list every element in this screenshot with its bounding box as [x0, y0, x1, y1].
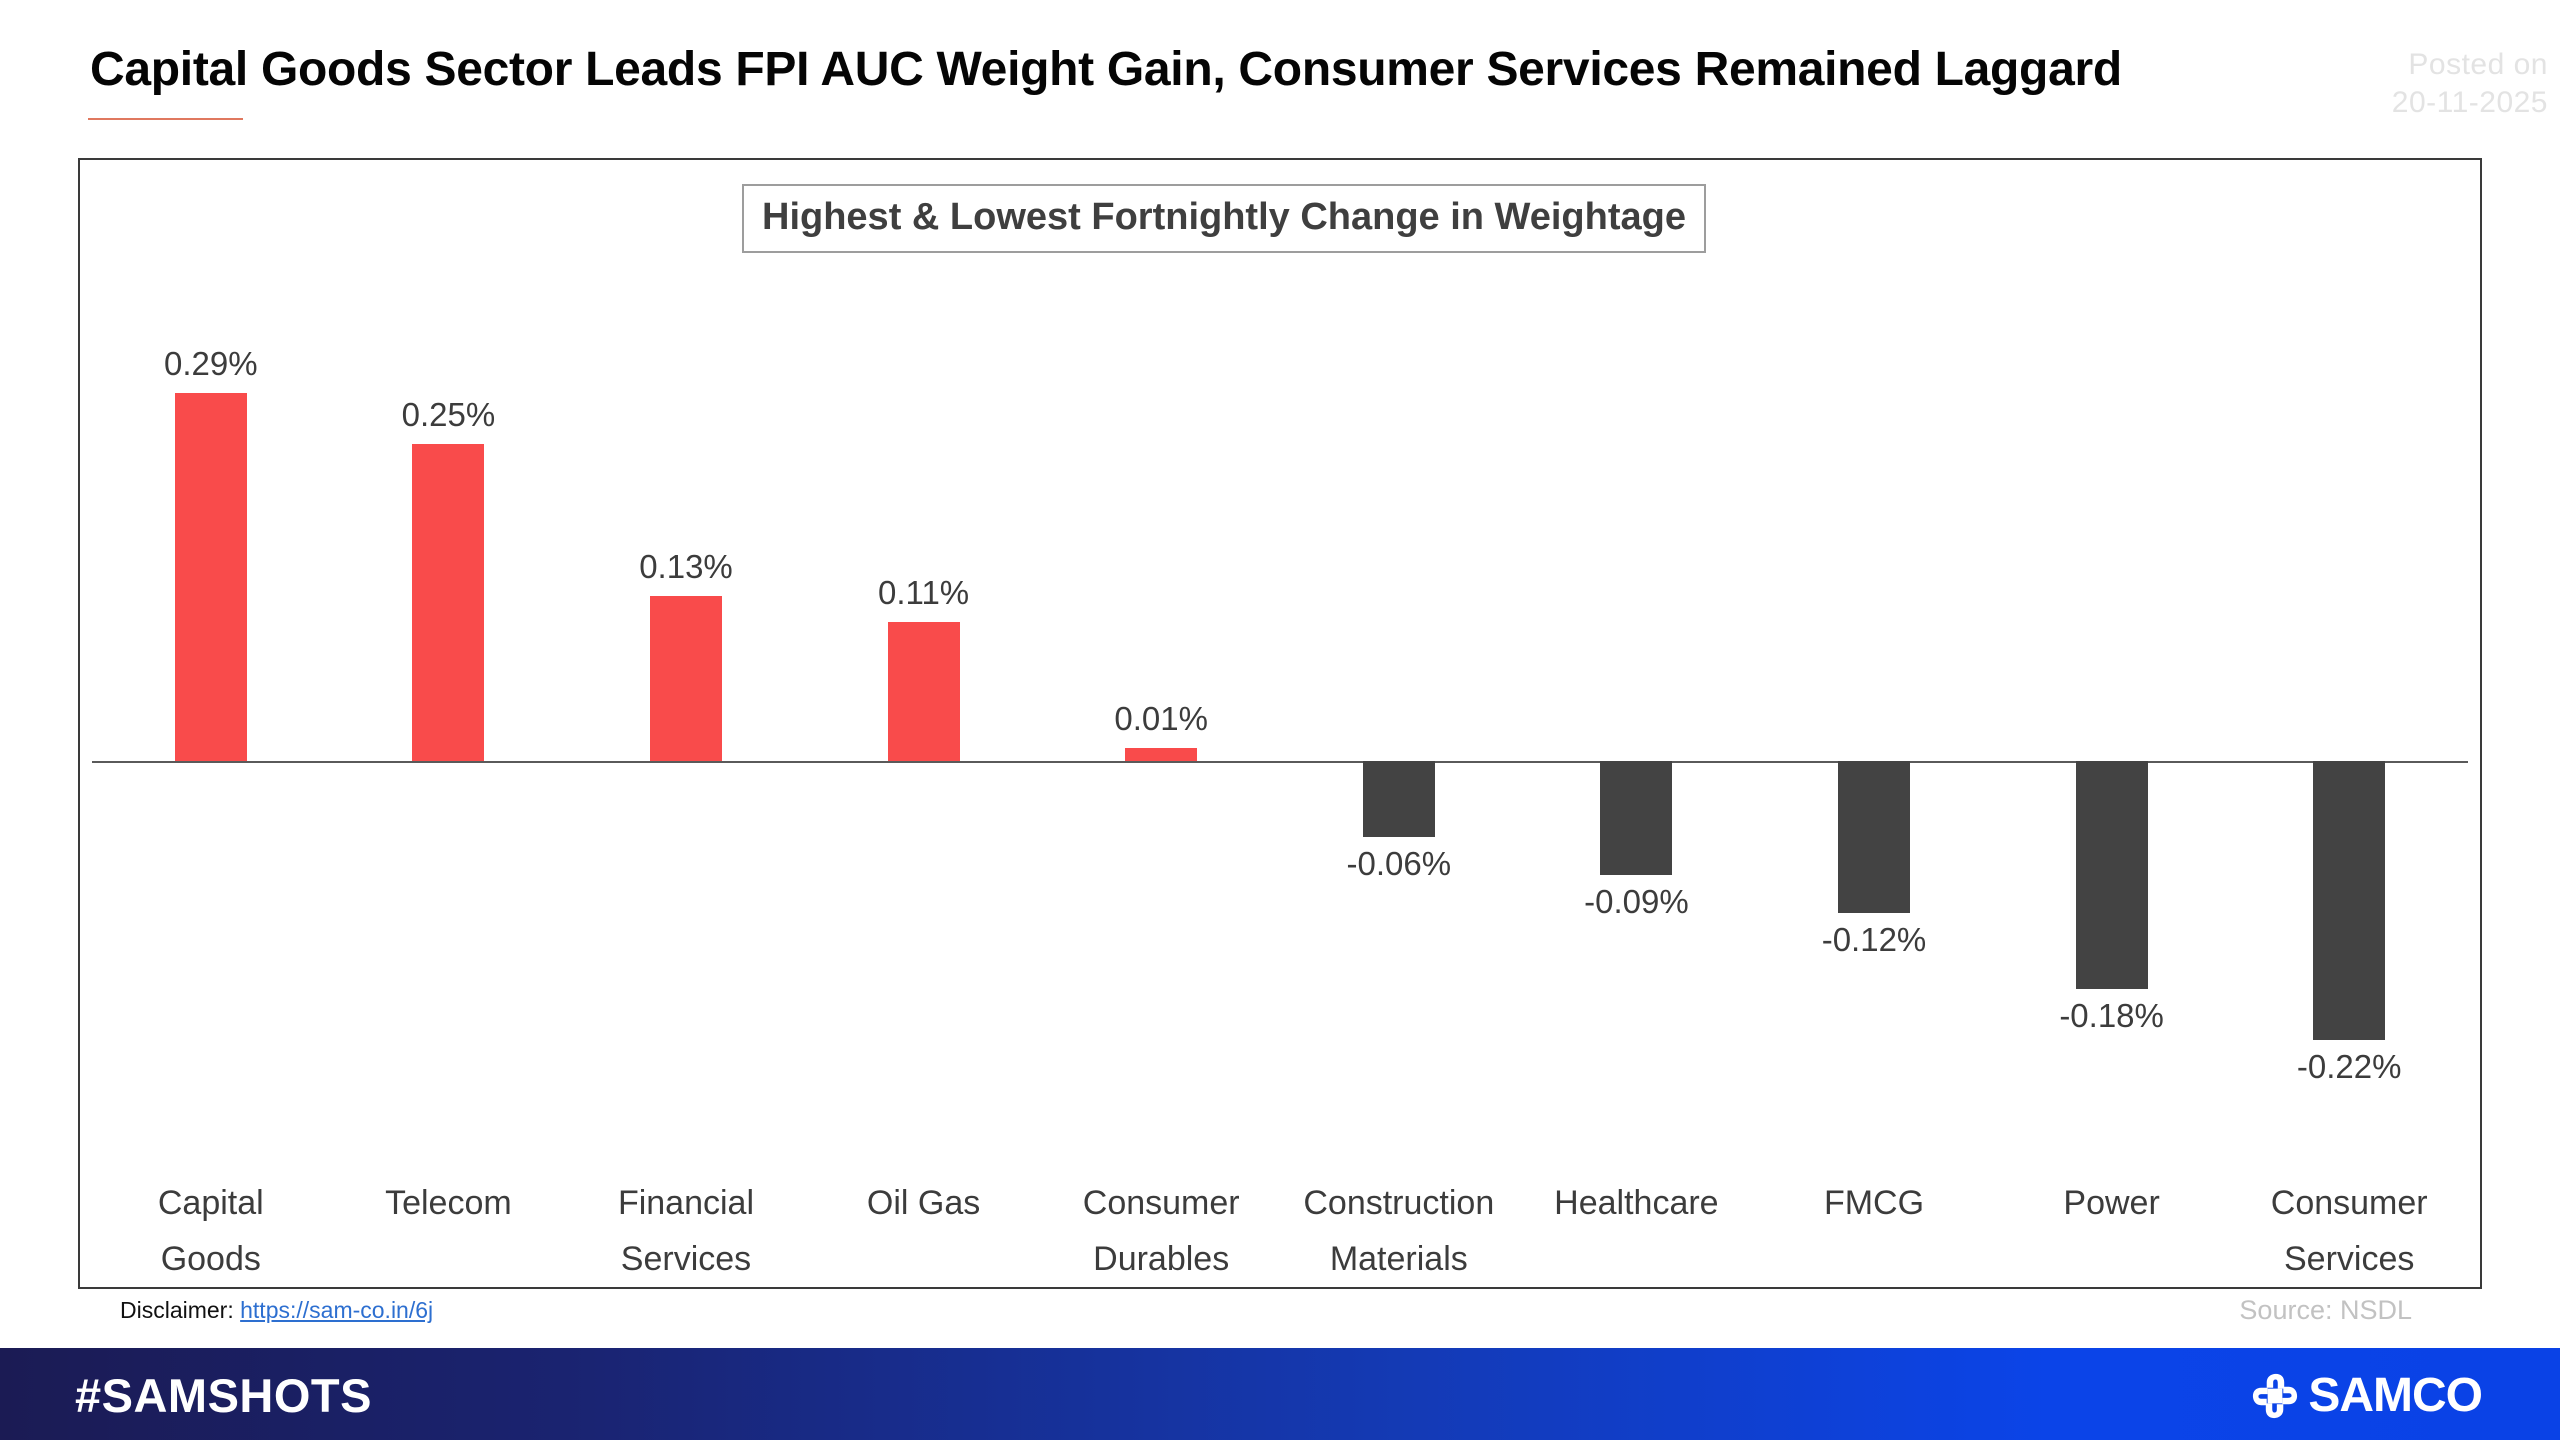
- bar-value-label: 0.25%: [402, 396, 496, 434]
- bar-slot: -0.22%: [2230, 160, 2468, 1170]
- bar-slot: 0.01%: [1042, 160, 1280, 1170]
- x-axis-label: ConstructionMaterials: [1280, 1175, 1518, 1287]
- samco-logo: SAMCO: [2252, 1368, 2482, 1423]
- x-axis-label: Oil Gas: [805, 1175, 1043, 1231]
- bar-negative[interactable]: [1363, 761, 1435, 837]
- chart-container: Highest & Lowest Fortnightly Change in W…: [78, 158, 2482, 1289]
- source-label: Source: NSDL: [2239, 1295, 2412, 1326]
- bar-value-label: -0.06%: [1347, 845, 1452, 883]
- bar-slot: -0.12%: [1755, 160, 1993, 1170]
- bar-value-label: 0.11%: [878, 574, 969, 612]
- disclaimer: Disclaimer: https://sam-co.in/6j: [120, 1297, 433, 1324]
- bar-value-label: -0.09%: [1584, 883, 1689, 921]
- bar-negative[interactable]: [1600, 761, 1672, 875]
- bar-value-label: -0.22%: [2297, 1048, 2402, 1086]
- x-axis-labels: CapitalGoodsTelecomFinancialServicesOil …: [92, 1175, 2468, 1285]
- bar-slot: 0.29%: [92, 160, 330, 1170]
- x-axis-label: CapitalGoods: [92, 1175, 330, 1287]
- disclaimer-link[interactable]: https://sam-co.in/6j: [240, 1297, 433, 1323]
- x-axis-label: FMCG: [1755, 1175, 1993, 1231]
- posted-on-block: Posted on 20-11-2025: [2392, 46, 2548, 122]
- bar-value-label: 0.13%: [639, 548, 733, 586]
- samshots-hashtag: #SAMSHOTS: [75, 1368, 372, 1423]
- posted-on-date: 20-11-2025: [2392, 84, 2548, 122]
- bar-slot: -0.09%: [1518, 160, 1756, 1170]
- samco-wordmark: SAMCO: [2308, 1368, 2482, 1423]
- bar-negative[interactable]: [2076, 761, 2148, 989]
- bar-slot: 0.11%: [805, 160, 1043, 1170]
- bar-series: 0.29%0.25%0.13%0.11%0.01%-0.06%-0.09%-0.…: [92, 160, 2468, 1170]
- x-axis-label: ConsumerDurables: [1042, 1175, 1280, 1287]
- x-axis-label: Telecom: [330, 1175, 568, 1231]
- bar-negative[interactable]: [1838, 761, 1910, 913]
- x-axis-label: ConsumerServices: [2230, 1175, 2468, 1287]
- page-header: Capital Goods Sector Leads FPI AUC Weigh…: [0, 0, 2560, 150]
- posted-on-label: Posted on: [2392, 46, 2548, 84]
- bar-positive[interactable]: [888, 622, 960, 761]
- bar-value-label: 0.01%: [1114, 700, 1208, 738]
- bar-slot: 0.25%: [330, 160, 568, 1170]
- samco-pinwheel-icon: [2252, 1373, 2298, 1419]
- x-axis-label: Power: [1993, 1175, 2231, 1231]
- bar-value-label: -0.12%: [1822, 921, 1927, 959]
- bar-slot: -0.18%: [1993, 160, 2231, 1170]
- bar-positive[interactable]: [412, 444, 484, 761]
- bar-slot: -0.06%: [1280, 160, 1518, 1170]
- bar-value-label: -0.18%: [2059, 997, 2164, 1035]
- page-title: Capital Goods Sector Leads FPI AUC Weigh…: [90, 42, 2122, 97]
- disclaimer-label: Disclaimer:: [120, 1297, 234, 1323]
- footer-bar: [0, 1348, 2560, 1440]
- bar-positive[interactable]: [1125, 748, 1197, 761]
- bar-slot: 0.13%: [567, 160, 805, 1170]
- bar-negative[interactable]: [2313, 761, 2385, 1040]
- bar-positive[interactable]: [175, 393, 247, 761]
- title-underline: [88, 118, 243, 120]
- slide-root: Capital Goods Sector Leads FPI AUC Weigh…: [0, 0, 2560, 1440]
- x-axis-label: Healthcare: [1518, 1175, 1756, 1231]
- x-axis-label: FinancialServices: [567, 1175, 805, 1287]
- bar-value-label: 0.29%: [164, 345, 258, 383]
- bar-positive[interactable]: [650, 596, 722, 761]
- plot-area: 0.29%0.25%0.13%0.11%0.01%-0.06%-0.09%-0.…: [80, 160, 2480, 1287]
